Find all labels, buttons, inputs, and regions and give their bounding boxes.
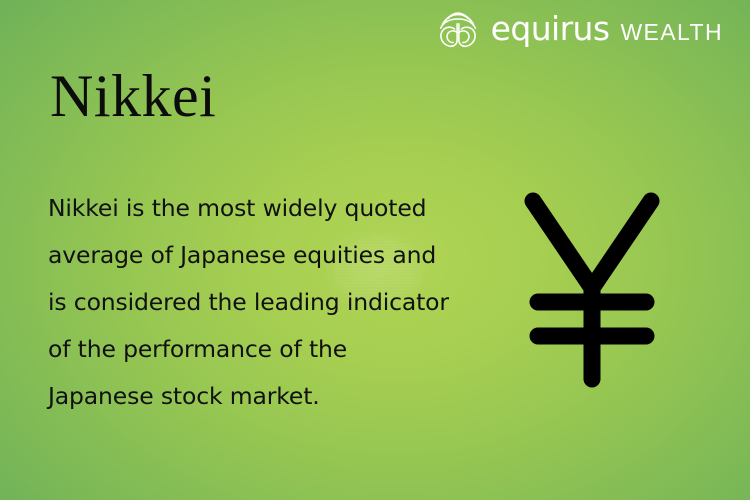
description-line: is considered the leading indicator bbox=[48, 279, 468, 326]
equirus-tree-fingerprint-logo-icon bbox=[436, 8, 480, 48]
description-line: average of Japanese equities and bbox=[48, 232, 468, 279]
brand-wordmark: equirus WEALTH bbox=[491, 12, 723, 45]
description-paragraph: Nikkei is the most widely quoted average… bbox=[48, 185, 468, 420]
brand-suffix: WEALTH bbox=[620, 21, 723, 44]
page-title: Nikkei bbox=[50, 66, 216, 126]
brand-name: equirus bbox=[491, 12, 610, 45]
slide-canvas: equirus WEALTH Nikkei Nikkei is the most… bbox=[0, 0, 750, 500]
description-line: Nikkei is the most widely quoted bbox=[48, 185, 468, 232]
description-line: of the performance of the bbox=[48, 326, 468, 373]
description-line: Japanese stock market. bbox=[48, 373, 468, 420]
japanese-yen-currency-symbol-icon bbox=[516, 184, 668, 396]
brand-logo[interactable]: equirus WEALTH bbox=[436, 6, 723, 50]
